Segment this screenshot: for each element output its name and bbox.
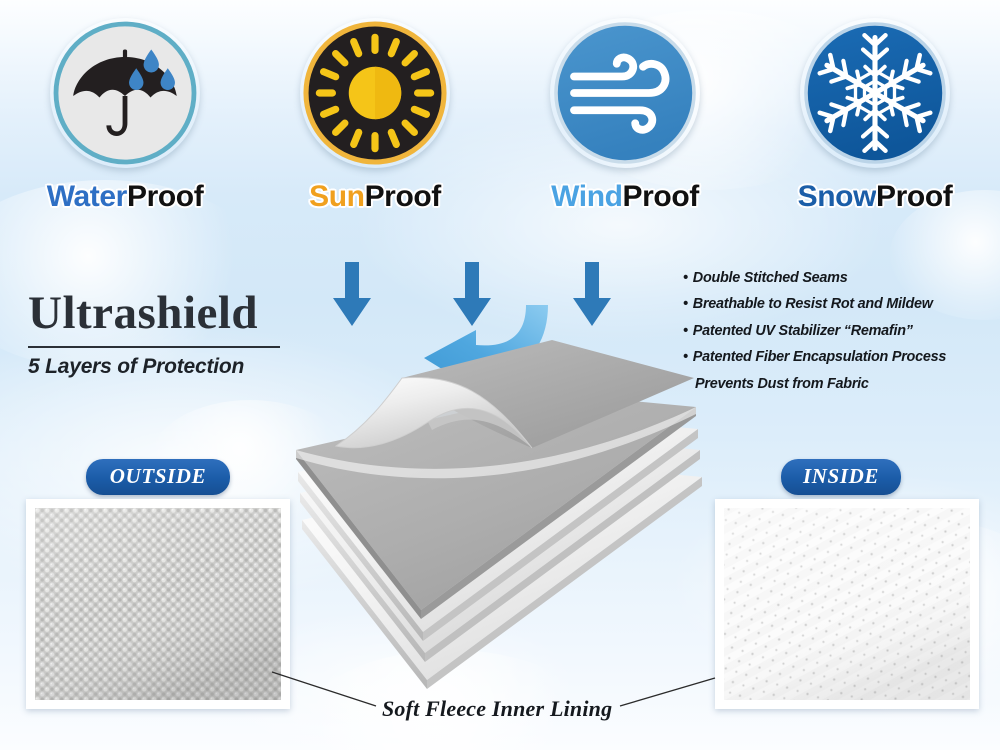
swatch-outside-frame: [26, 499, 290, 709]
five-layer-fabric-stack: [282, 330, 722, 690]
bullet-item: •Patented Fiber Encapsulation Process: [683, 350, 995, 364]
badge-inside: INSIDE: [781, 459, 901, 495]
label-rest: Proof: [876, 180, 952, 213]
brand-name: Ultrashield: [28, 290, 298, 337]
weather-down-arrow: [572, 262, 612, 328]
feature-label-windproof: WindProof: [513, 182, 738, 212]
inside-fleece-texture: [724, 508, 970, 700]
sun-icon: [300, 18, 450, 168]
label-accent: Sun: [309, 180, 364, 213]
label-accent: Water: [47, 180, 127, 213]
feature-bullet-list: •Double Stitched Seams •Breathable to Re…: [683, 271, 995, 403]
label-rest: Proof: [365, 180, 441, 213]
feature-snowproof[interactable]: SnowProof: [763, 18, 988, 212]
brand-divider: [28, 346, 280, 348]
brand-block: Ultrashield 5 Layers of Protection: [28, 290, 298, 379]
feature-windproof[interactable]: WindProof: [513, 18, 738, 212]
bullet-marker: •: [683, 296, 688, 312]
outside-fabric-texture: [35, 508, 281, 700]
feature-label-waterproof: WaterProof: [13, 182, 238, 212]
bullet-marker: •: [683, 270, 688, 286]
bullet-item: •Double Stitched Seams: [683, 271, 995, 285]
feature-waterproof[interactable]: WaterProof: [13, 18, 238, 212]
fleece-caption: Soft Fleece Inner Lining: [382, 696, 612, 722]
badge-outside: OUTSIDE: [86, 459, 230, 495]
brand-subtitle: 5 Layers of Protection: [28, 355, 298, 379]
bullet-item-continuation: Prevents Dust from Fabric: [683, 377, 995, 391]
bullet-item: •Patented UV Stabilizer “Remafin”: [683, 324, 995, 338]
label-rest: Proof: [127, 180, 203, 213]
windproof-badge-circle: [550, 18, 700, 168]
umbrella-rain-icon: [50, 18, 200, 168]
feature-sunproof[interactable]: SunProof: [263, 18, 488, 212]
snowflake-icon: [800, 18, 950, 168]
feature-badge-row: WaterProof: [0, 18, 1000, 212]
infographic-canvas: WaterProof: [0, 0, 1000, 750]
wind-icon: [550, 18, 700, 168]
bullet-text: Double Stitched Seams: [693, 270, 848, 286]
bullet-item: •Breathable to Resist Rot and Mildew: [683, 297, 995, 311]
label-accent: Wind: [551, 180, 622, 213]
bullet-text: Patented UV Stabilizer “Remafin”: [693, 323, 913, 339]
feature-label-snowproof: SnowProof: [763, 182, 988, 212]
label-rest: Proof: [623, 180, 699, 213]
weather-down-arrow: [332, 262, 372, 328]
snowproof-badge-circle: [800, 18, 950, 168]
label-accent: Snow: [798, 180, 876, 213]
feature-label-sunproof: SunProof: [263, 182, 488, 212]
sunproof-badge-circle: [300, 18, 450, 168]
bullet-text: Breathable to Resist Rot and Mildew: [693, 296, 933, 312]
bullet-text: Patented Fiber Encapsulation Process: [693, 349, 946, 365]
waterproof-badge-circle: [50, 18, 200, 168]
swatch-inside-frame: [715, 499, 979, 709]
